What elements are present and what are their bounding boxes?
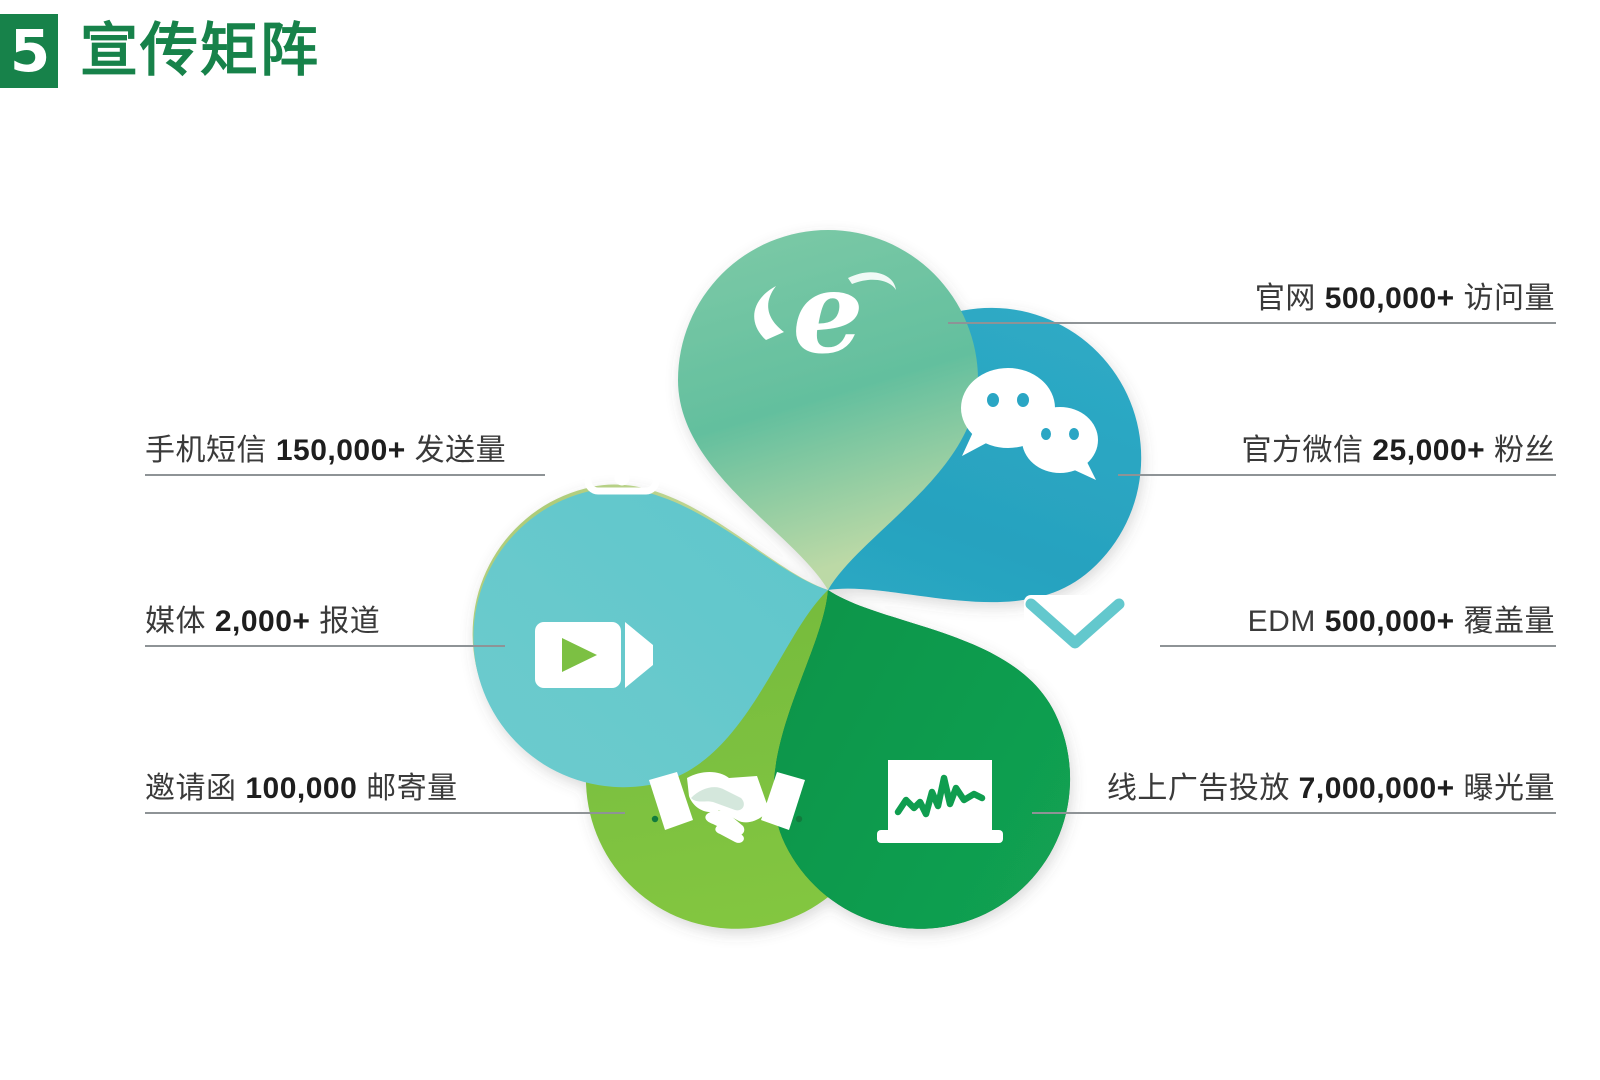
label-invitation-suffix: 邮寄量 xyxy=(366,772,458,805)
label-online-ads-prefix: 线上广告投放 xyxy=(1107,772,1290,805)
label-online-ads-suffix: 曝光量 xyxy=(1464,772,1556,805)
label-wechat-suffix: 粉丝 xyxy=(1494,434,1555,467)
infographic-canvas: 5 宣传矩阵 xyxy=(0,0,1600,1080)
page-header: 5 宣传矩阵 xyxy=(0,14,320,88)
label-online-ads-value: 7,000,000+ xyxy=(1299,772,1455,805)
smartphone-icon xyxy=(588,373,656,491)
label-website-prefix: 官网 xyxy=(1255,282,1316,315)
label-invitation[interactable]: 邀请函 100,000 邮寄量 xyxy=(145,763,458,816)
label-website-value: 500,000+ xyxy=(1325,282,1455,315)
petal-diagram: e xyxy=(0,0,1600,1080)
label-sms[interactable]: 手机短信 150,000+ 发送量 xyxy=(145,425,506,478)
label-website[interactable]: 官网 500,000+ 访问量 xyxy=(1255,273,1555,326)
label-wechat[interactable]: 官方微信 25,000+ 粉丝 xyxy=(1242,425,1555,478)
envelope-icon xyxy=(1024,595,1126,669)
label-media[interactable]: 媒体 2,000+ 报道 xyxy=(145,596,380,649)
page-title: 宣传矩阵 xyxy=(80,14,320,88)
label-edm-value: 500,000+ xyxy=(1325,605,1455,638)
label-edm-suffix: 覆盖量 xyxy=(1464,605,1556,638)
label-media-value: 2,000+ xyxy=(215,605,311,638)
label-website-suffix: 访问量 xyxy=(1464,282,1556,315)
label-invitation-value: 100,000 xyxy=(245,772,357,805)
label-edm-prefix: EDM xyxy=(1248,605,1316,638)
label-sms-suffix: 发送量 xyxy=(415,434,507,467)
label-media-prefix: 媒体 xyxy=(145,605,206,638)
label-online-ads[interactable]: 线上广告投放 7,000,000+ 曝光量 xyxy=(1107,763,1555,816)
label-media-suffix: 报道 xyxy=(319,605,380,638)
label-sms-value: 150,000+ xyxy=(276,434,406,467)
label-edm[interactable]: EDM 500,000+ 覆盖量 xyxy=(1248,596,1555,649)
label-wechat-value: 25,000+ xyxy=(1372,434,1485,467)
section-number-badge: 5 xyxy=(0,14,58,88)
label-sms-prefix: 手机短信 xyxy=(145,434,267,467)
label-invitation-prefix: 邀请函 xyxy=(145,772,237,805)
label-wechat-prefix: 官方微信 xyxy=(1242,434,1364,467)
